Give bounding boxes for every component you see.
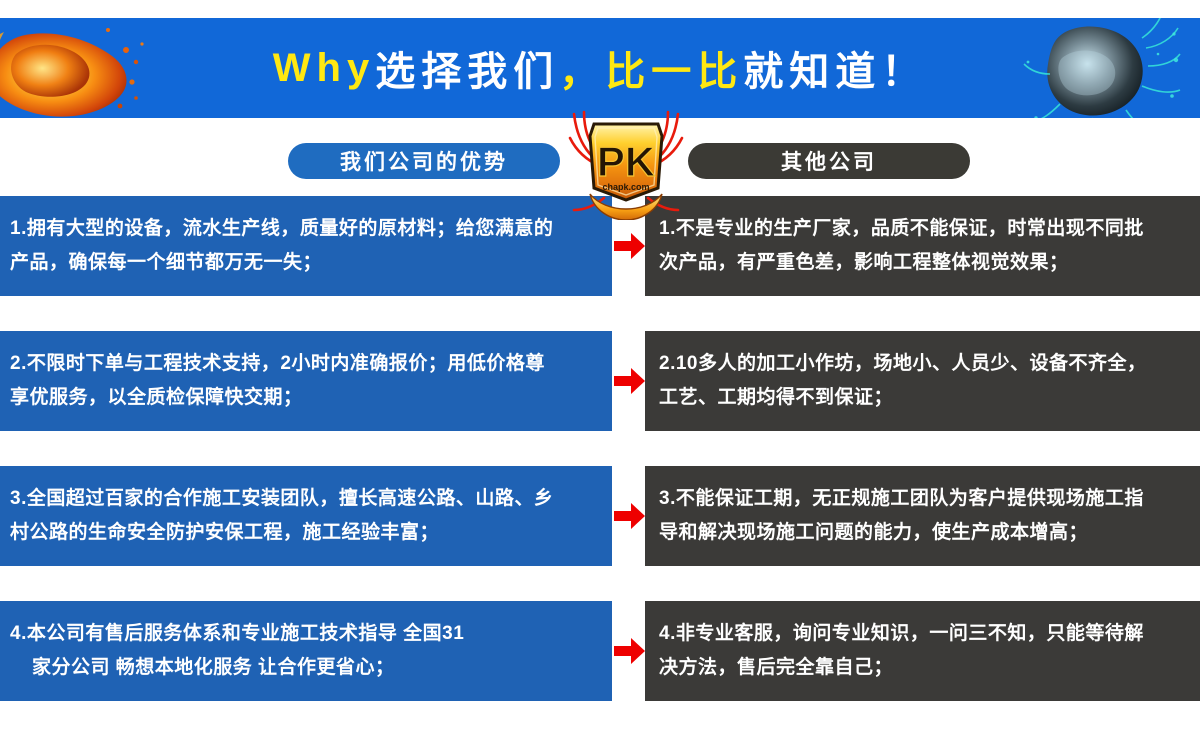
pk-logo-text: PK <box>597 138 655 185</box>
advantage-line: 村公路的生命安全防护安保工程，施工经验丰富； <box>10 516 598 550</box>
advantage-line: 2.不限时下单与工程技术支持，2小时内准确报价；用低价格尊 <box>10 347 598 381</box>
red-right-arrow-icon <box>614 232 645 260</box>
comparison-row: 3.全国超过百家的合作施工安装团队，擅长高速公路、山路、乡 村公路的生命安全防护… <box>0 466 1200 566</box>
drawback-line: 1.不是专业的生产厂家，品质不能保证，时常出现不同批 <box>659 212 1188 246</box>
drawback-line: 工艺、工期均得不到保证； <box>659 381 1188 415</box>
red-right-arrow-icon <box>614 637 645 665</box>
drawback-panel: 2.10多人的加工小作坊，场地小、人员少、设备不齐全， 工艺、工期均得不到保证； <box>645 331 1200 431</box>
pill-label-other: 其他公司 <box>781 146 877 176</box>
drawback-line: 导和解决现场施工问题的能力，使生产成本增高； <box>659 516 1188 550</box>
comparison-rows: 1.拥有大型的设备，流水生产线，质量好的原材料；给您满意的 产品，确保每一个细节… <box>0 196 1200 736</box>
advantage-line: 家分公司 畅想本地化服务 让合作更省心； <box>10 651 598 685</box>
header-pill-other-companies[interactable]: 其他公司 <box>688 143 970 179</box>
advantage-line: 享优服务，以全质检保障快交期； <box>10 381 598 415</box>
advantage-line: 4.本公司有售后服务体系和专业施工技术指导 全国31 <box>10 617 598 651</box>
advantage-panel: 3.全国超过百家的合作施工安装团队，擅长高速公路、山路、乡 村公路的生命安全防护… <box>0 466 612 566</box>
advantage-line: 1.拥有大型的设备，流水生产线，质量好的原材料；给您满意的 <box>10 212 598 246</box>
comparison-headers: 我们公司的优势 <box>0 140 1200 186</box>
red-right-arrow-icon <box>614 502 645 530</box>
drawback-line: 次产品，有严重色差，影响工程整体视觉效果； <box>659 246 1188 280</box>
drawback-line: 2.10多人的加工小作坊，场地小、人员少、设备不齐全， <box>659 347 1188 381</box>
drawback-line: 4.非专业客服，询问专业知识，一问三不知，只能等待解 <box>659 617 1188 651</box>
advantage-panel: 2.不限时下单与工程技术支持，2小时内准确报价；用低价格尊 享优服务，以全质检保… <box>0 331 612 431</box>
drawback-panel: 3.不能保证工期，无正规施工团队为客户提供现场施工指 导和解决现场施工问题的能力… <box>645 466 1200 566</box>
pk-logo-icon: PK chapk.com <box>566 102 686 220</box>
pill-label-ours: 我们公司的优势 <box>340 146 508 176</box>
comparison-row: 2.不限时下单与工程技术支持，2小时内准确报价；用低价格尊 享优服务，以全质检保… <box>0 331 1200 431</box>
advantage-line: 3.全国超过百家的合作施工安装团队，擅长高速公路、山路、乡 <box>10 482 598 516</box>
title-part-comma: ， <box>559 39 605 97</box>
advantage-line: 产品，确保每一个细节都万无一失； <box>10 246 598 280</box>
title-part-know: 就知道！ <box>743 39 927 97</box>
advantage-panel: 4.本公司有售后服务体系和专业施工技术指导 全国31 家分公司 畅想本地化服务 … <box>0 601 612 701</box>
advantage-panel: 1.拥有大型的设备，流水生产线，质量好的原材料；给您满意的 产品，确保每一个细节… <box>0 196 612 296</box>
title-part-choose: 选择我们 <box>375 39 559 97</box>
title-part-compare: 比一比 <box>605 39 743 97</box>
comparison-row: 4.本公司有售后服务体系和专业施工技术指导 全国31 家分公司 畅想本地化服务 … <box>0 601 1200 701</box>
drawback-line: 决方法，售后完全靠自己； <box>659 651 1188 685</box>
drawback-line: 3.不能保证工期，无正规施工团队为客户提供现场施工指 <box>659 482 1188 516</box>
red-right-arrow-icon <box>614 367 645 395</box>
pk-logo-subtext: chapk.com <box>602 182 649 192</box>
drawback-panel: 1.不是专业的生产厂家，品质不能保证，时常出现不同批 次产品，有严重色差，影响工… <box>645 196 1200 296</box>
drawback-panel: 4.非专业客服，询问专业知识，一问三不知，只能等待解 决方法，售后完全靠自己； <box>645 601 1200 701</box>
header-pill-our-advantages[interactable]: 我们公司的优势 <box>288 143 560 179</box>
title-part-why: Why <box>273 46 375 91</box>
